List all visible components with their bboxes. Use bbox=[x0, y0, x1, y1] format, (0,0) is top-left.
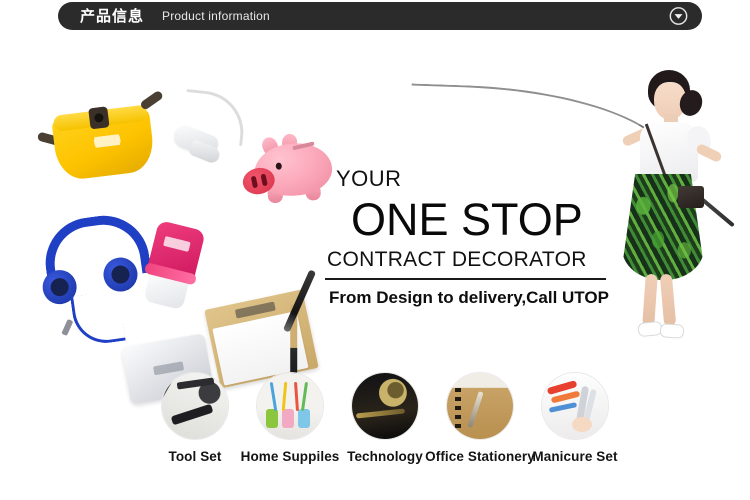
headphones-cord bbox=[70, 290, 126, 347]
pouch-clasp bbox=[88, 106, 109, 129]
home-supplies-thumbnail[interactable] bbox=[256, 372, 324, 440]
manicure-set-thumbnail-art bbox=[542, 373, 608, 439]
header-title-english: Product information bbox=[162, 10, 270, 22]
hero-divider-rule bbox=[325, 278, 606, 280]
model-sandal-left bbox=[637, 321, 662, 337]
category-item-home-supplies[interactable]: Home Suppiles bbox=[245, 372, 335, 464]
model-woman-with-fishing-rod bbox=[600, 70, 750, 360]
category-label-home-supplies: Home Suppiles bbox=[241, 449, 340, 464]
office-stationery-thumbnail-art bbox=[447, 373, 513, 439]
hero-line-contract-decorator: CONTRACT DECORATOR bbox=[327, 249, 615, 270]
model-leg-left bbox=[642, 274, 658, 327]
headphones-jack bbox=[61, 319, 73, 336]
model-shoulder-bag bbox=[678, 186, 704, 208]
office-stationery-thumbnail[interactable] bbox=[446, 372, 514, 440]
technology-thumbnail-art bbox=[352, 373, 418, 439]
hero-tagline: From Design to delivery,Call UTOP bbox=[329, 289, 615, 306]
category-label-manicure-set: Manicure Set bbox=[532, 449, 617, 464]
manicure-set-thumbnail[interactable] bbox=[541, 372, 609, 440]
category-item-tool-set[interactable]: Tool Set bbox=[150, 372, 240, 464]
model-sandal-right bbox=[660, 323, 685, 339]
hero-text-block: YOUR ONE STOP CONTRACT DECORATOR From De… bbox=[325, 168, 615, 306]
tool-set-thumbnail-art bbox=[162, 373, 228, 439]
home-supplies-thumbnail-art bbox=[257, 373, 323, 439]
header-title-chinese: 产品信息 bbox=[80, 9, 144, 24]
product-cosmetic-pouch bbox=[40, 93, 167, 185]
product-photo-cluster bbox=[0, 40, 350, 370]
hero-line-one-stop: ONE STOP bbox=[351, 196, 615, 243]
category-label-tool-set: Tool Set bbox=[168, 449, 221, 464]
category-item-manicure-set[interactable]: Manicure Set bbox=[530, 372, 620, 464]
model-leg-right bbox=[660, 274, 676, 327]
category-label-technology: Technology bbox=[347, 449, 423, 464]
category-item-technology[interactable]: Technology bbox=[340, 372, 430, 464]
technology-thumbnail[interactable] bbox=[351, 372, 419, 440]
category-row: Tool Set Home Suppiles Technology Office… bbox=[150, 372, 620, 468]
section-header-bar: 产品信息 Product information bbox=[58, 2, 702, 30]
product-information-banner: 产品信息 Product information bbox=[0, 0, 750, 500]
pouch-pull-right bbox=[139, 90, 164, 111]
chevron-down-circle-icon[interactable] bbox=[669, 7, 688, 26]
category-label-office-stationery: Office Stationery bbox=[425, 449, 535, 464]
tool-set-thumbnail[interactable] bbox=[161, 372, 229, 440]
category-item-office-stationery[interactable]: Office Stationery bbox=[435, 372, 525, 464]
